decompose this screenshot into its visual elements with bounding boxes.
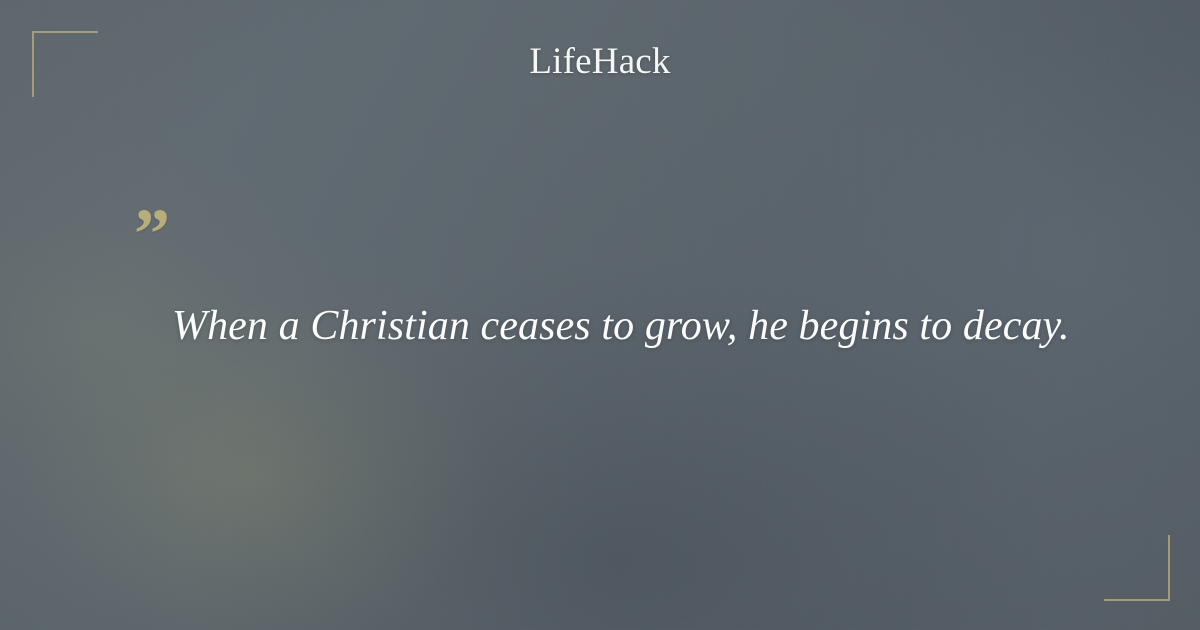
quote-card: LifeHack ” When a Christian ceases to gr…: [0, 0, 1200, 630]
quote-text: When a Christian ceases to grow, he begi…: [172, 300, 1072, 352]
brand-logo: LifeHack: [0, 41, 1200, 83]
quotation-mark-icon: ”: [134, 212, 1092, 256]
quote-block: ” When a Christian ceases to grow, he be…: [132, 212, 1092, 352]
corner-bracket-bottom-right-icon: [1104, 535, 1170, 601]
